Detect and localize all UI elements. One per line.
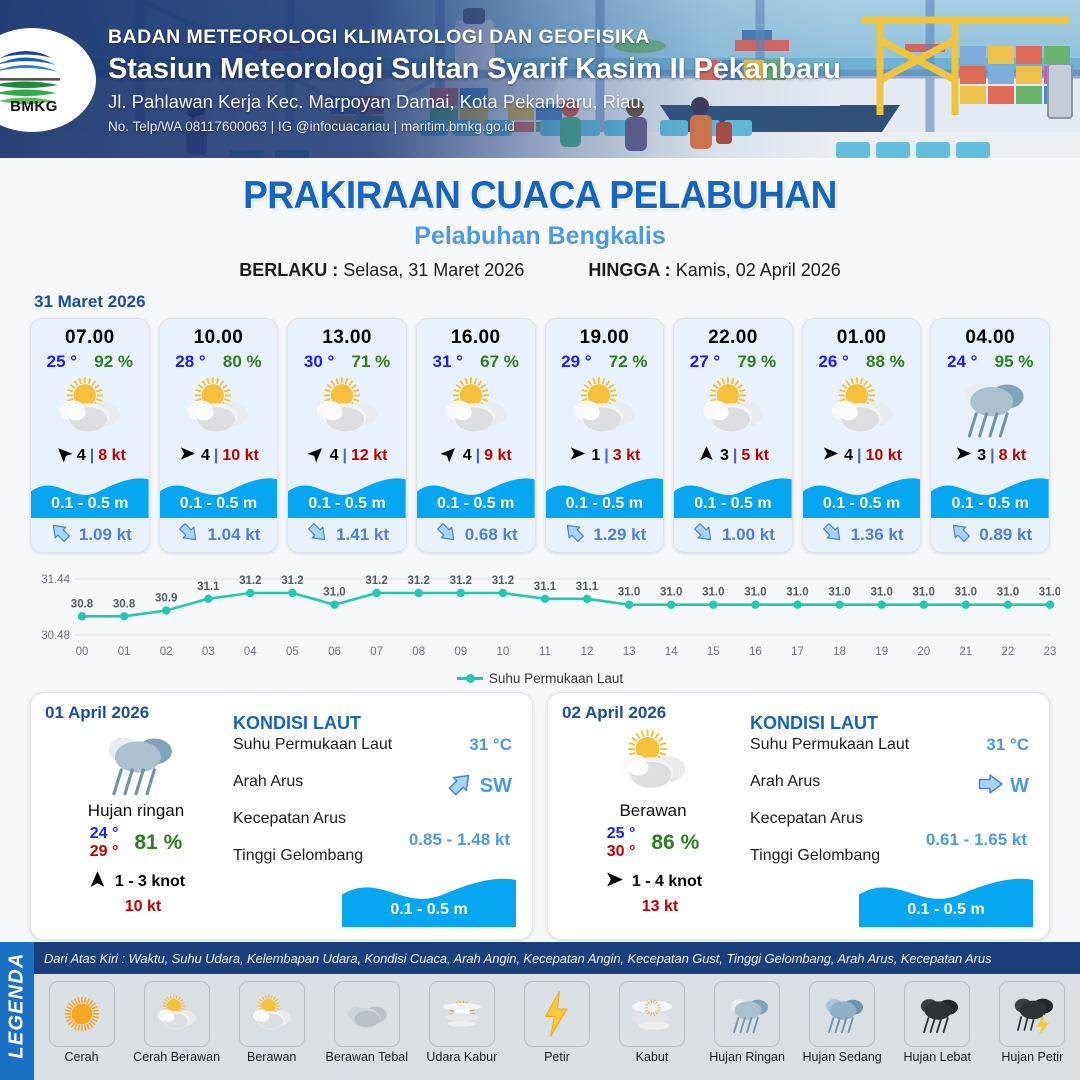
svg-text:31.44: 31.44 — [41, 574, 70, 586]
legend-item: Hujan Petir — [988, 981, 1076, 1064]
card-current-row: 1.29 kt — [546, 518, 664, 552]
weather-cerah-berawan-icon — [417, 372, 535, 442]
card-wave-block: 0.1 - 0.5 m — [31, 472, 149, 518]
card-wave-block: 0.1 - 0.5 m — [417, 472, 535, 518]
card-temp-hum: 26 ° 88 % — [803, 349, 921, 372]
card-humidity: 72 % — [609, 352, 648, 372]
card-time: 07.00 — [31, 319, 149, 349]
weather-cerah-berawan-icon — [31, 372, 149, 442]
svg-text:31.0: 31.0 — [744, 587, 766, 599]
sst-label: Suhu Permukaan Laut — [750, 736, 909, 753]
card-temp-hum: 27 ° 79 % — [674, 349, 792, 372]
card-wind-row: 4 | 12 kt — [288, 442, 406, 472]
svg-text:19: 19 — [875, 646, 888, 658]
svg-text:06: 06 — [328, 646, 341, 658]
card-wave-block: 0.1 - 0.5 m — [546, 472, 664, 518]
sst-chart: 31.4430.4830.80030.80130.90231.10331.204… — [20, 563, 1060, 669]
current-speed: 1.41 kt — [336, 525, 389, 545]
current-direction-row: Arah Arus W — [750, 773, 1035, 810]
daily-wind-gust: 10 kt — [45, 898, 227, 916]
legend-udara-kabur-icon — [429, 981, 495, 1047]
wind-direction-arrow-icon — [54, 444, 73, 468]
current-direction-arrow-icon — [176, 520, 201, 550]
legend-bar: LEGENDA Dari Atas Kiri : Waktu, Suhu Uda… — [0, 942, 1080, 1080]
svg-text:31.0: 31.0 — [997, 587, 1019, 599]
svg-text:10: 10 — [497, 646, 510, 658]
chart-legend: Suhu Permukaan Laut — [0, 671, 1080, 686]
svg-text:23: 23 — [1044, 646, 1057, 658]
wave-height: 0.1 - 0.5 m — [674, 495, 792, 513]
svg-text:07: 07 — [370, 646, 383, 658]
legend-berawan-tebal-icon — [334, 981, 400, 1047]
daily-humidity: 81 % — [134, 831, 182, 855]
card-humidity: 71 % — [352, 352, 391, 372]
daily-sea-conditions: KONDISI LAUT Suhu Permukaan Laut 31 °C A… — [227, 703, 518, 929]
current-direction-arrow-icon — [48, 520, 73, 550]
card-current-row: 1.09 kt — [31, 518, 149, 552]
current-direction-arrow-icon — [445, 769, 475, 804]
card-wind-row: 4 | 10 kt — [803, 442, 921, 472]
sea-conditions-title: KONDISI LAUT — [750, 713, 1035, 734]
wave-height: 0.1 - 0.5 m — [31, 495, 149, 513]
daily-temp-max: 29 ° — [90, 843, 119, 861]
wind-separator: | — [214, 447, 218, 465]
wind-separator: | — [604, 447, 608, 465]
sst-value: 31 °C — [469, 735, 512, 755]
daily-sea-conditions: KONDISI LAUT Suhu Permukaan Laut 31 °C A… — [744, 703, 1035, 929]
weather-cerah-berawan-icon — [160, 372, 278, 442]
legend-hujan-petir-icon — [999, 981, 1065, 1047]
svg-text:31.0: 31.0 — [913, 587, 935, 599]
wind-speed: 3 — [977, 447, 986, 465]
svg-text:04: 04 — [244, 646, 257, 658]
daily-date: 02 April 2026 — [562, 703, 744, 723]
legend-item: Berawan — [228, 981, 316, 1064]
weather-cerah-berawan-icon — [546, 372, 664, 442]
wave-height-label: Tinggi Gelombang — [233, 847, 363, 864]
sst-row: Suhu Permukaan Laut 31 °C — [233, 736, 518, 773]
legend-item-label: Petir — [513, 1050, 601, 1064]
wind-speed: 4 — [201, 447, 210, 465]
legend-note: Dari Atas Kiri : Waktu, Suhu Udara, Kele… — [44, 951, 991, 966]
daily-forecast-row: 01 April 2026 Hujan ringan 24 ° 29 ° 81 … — [0, 686, 1080, 940]
daily-temps: 24 ° 29 ° 81 % — [45, 825, 227, 861]
current-direction-arrow-icon — [434, 520, 459, 550]
svg-text:31.0: 31.0 — [786, 587, 808, 599]
current-direction-value: W — [1010, 775, 1029, 798]
wind-gust: 5 kt — [741, 447, 769, 465]
wave-height: 0.1 - 0.5 m — [803, 495, 921, 513]
svg-text:00: 00 — [76, 646, 89, 658]
legend-tab: LEGENDA — [0, 942, 34, 1080]
svg-text:22: 22 — [1002, 646, 1015, 658]
station-contact: No. Telp/WA 08117600063 | IG @infocuacar… — [108, 119, 841, 134]
current-speed: 0.89 kt — [979, 525, 1032, 545]
current-speed: 1.09 kt — [79, 525, 132, 545]
card-time: 22.00 — [674, 319, 792, 349]
current-direction-arrow-icon — [820, 520, 845, 550]
card-current-row: 0.89 kt — [931, 518, 1049, 552]
svg-text:18: 18 — [833, 646, 846, 658]
card-wave-block: 0.1 - 0.5 m — [674, 472, 792, 518]
current-speed-label: Kecepatan Arus — [750, 810, 863, 827]
page-title-block: PRAKIRAAN CUACA PELABUHAN Pelabuhan Beng… — [0, 158, 1080, 281]
svg-text:15: 15 — [707, 646, 720, 658]
card-temperature: 31 ° — [432, 352, 462, 372]
station-name: Stasiun Meteorologi Sultan Syarif Kasim … — [108, 53, 841, 86]
legend-item-label: Hujan Lebat — [893, 1050, 981, 1064]
wind-gust: 3 kt — [613, 447, 641, 465]
card-time: 13.00 — [288, 319, 406, 349]
wind-gust: 8 kt — [98, 447, 126, 465]
hourly-forecast-row: 07.00 25 ° 92 % 4 | 8 kt 0.1 - 0. — [0, 318, 1080, 553]
daily-forecast-card[interactable]: 01 April 2026 Hujan ringan 24 ° 29 ° 81 … — [30, 692, 533, 940]
card-temp-hum: 31 ° 67 % — [417, 349, 535, 372]
legend-item-label: Berawan Tebal — [323, 1050, 411, 1064]
card-humidity: 88 % — [866, 352, 905, 372]
wind-speed: 4 — [77, 447, 86, 465]
svg-text:31.1: 31.1 — [197, 581, 220, 593]
wind-direction-arrow-icon — [821, 444, 840, 468]
daily-condition: Berawan — [562, 801, 744, 821]
current-direction-row: Arah Arus SW — [233, 773, 518, 810]
legend-item-label: Kabut — [608, 1050, 696, 1064]
svg-text:31.0: 31.0 — [871, 587, 893, 599]
svg-text:31.1: 31.1 — [534, 581, 557, 593]
card-wave-block: 0.1 - 0.5 m — [160, 472, 278, 518]
daily-wind-row: 1 - 4 knot — [562, 869, 744, 895]
card-wind-row: 3 | 8 kt — [931, 442, 1049, 472]
weather-cerah-berawan-icon — [562, 725, 744, 799]
svg-text:31.0: 31.0 — [1039, 587, 1060, 599]
hingga-label: HINGGA : — [588, 260, 670, 280]
sst-row: Suhu Permukaan Laut 31 °C — [750, 736, 1035, 773]
hourly-card[interactable]: 01.00 26 ° 88 % 4 | 10 kt 0.1 - 0 — [802, 318, 922, 553]
card-temp-hum: 30 ° 71 % — [288, 349, 406, 372]
weather-hujan-ringan-icon — [45, 725, 227, 799]
wave-height: 0.1 - 0.5 m — [417, 495, 535, 513]
card-humidity: 67 % — [480, 352, 519, 372]
current-direction-value-group: SW — [445, 769, 512, 804]
legend-item: Berawan Tebal — [323, 981, 411, 1064]
legend-item: Kabut — [608, 981, 696, 1064]
legend-item-label: Cerah — [38, 1050, 126, 1064]
weather-cerah-berawan-icon — [674, 372, 792, 442]
banner-text-block: BADAN METEOROLOGI KLIMATOLOGI DAN GEOFIS… — [108, 26, 841, 134]
agency-name: BADAN METEOROLOGI KLIMATOLOGI DAN GEOFIS… — [108, 26, 841, 49]
validity-row: BERLAKU : Selasa, 31 Maret 2026 HINGGA :… — [0, 260, 1080, 281]
daily-temp-range: 25 ° 30 ° — [607, 825, 636, 861]
wind-gust: 8 kt — [999, 447, 1027, 465]
card-current-row: 1.36 kt — [803, 518, 921, 552]
wind-separator: | — [990, 447, 994, 465]
berlaku-value: Selasa, 31 Maret 2026 — [343, 260, 524, 280]
svg-text:03: 03 — [202, 646, 215, 658]
page-subtitle: Pelabuhan Bengkalis — [0, 222, 1080, 251]
wind-direction-arrow-icon — [697, 444, 716, 468]
wind-speed: 4 — [463, 447, 472, 465]
legend-item-label: Hujan Sedang — [798, 1050, 886, 1064]
wind-gust: 10 kt — [866, 447, 902, 465]
card-temp-hum: 28 ° 80 % — [160, 349, 278, 372]
sst-value: 31 °C — [986, 735, 1029, 755]
wave-height: 0.1 - 0.5 m — [288, 495, 406, 513]
daily-wave-value: 0.1 - 0.5 m — [859, 901, 1033, 919]
legend-hujan-lebat-icon — [904, 981, 970, 1047]
svg-text:31.0: 31.0 — [660, 587, 682, 599]
current-direction-arrow-icon — [948, 520, 973, 550]
svg-text:30.48: 30.48 — [41, 630, 70, 642]
svg-text:08: 08 — [412, 646, 425, 658]
svg-text:20: 20 — [917, 646, 930, 658]
legend-icon-row: Cerah Cerah Berawan Berawan — [34, 974, 1080, 1080]
card-current-row: 0.68 kt — [417, 518, 535, 552]
wind-gust: 9 kt — [484, 447, 512, 465]
chart-legend-label: Suhu Permukaan Laut — [489, 671, 623, 686]
daily-wave-graphic: 0.1 - 0.5 m — [342, 871, 516, 927]
wind-gust: 12 kt — [351, 447, 387, 465]
header-banner: BMKG BADAN METEOROLOGI KLIMATOLOGI DAN G… — [0, 0, 1080, 158]
daily-temps: 25 ° 30 ° 86 % — [562, 825, 744, 861]
sst-label: Suhu Permukaan Laut — [233, 736, 392, 753]
card-wind-row: 4 | 8 kt — [31, 442, 149, 472]
wind-direction-arrow-icon — [604, 869, 625, 895]
current-direction-arrow-icon — [975, 769, 1005, 804]
svg-text:05: 05 — [286, 646, 299, 658]
wind-separator: | — [857, 447, 861, 465]
wave-height: 0.1 - 0.5 m — [546, 495, 664, 513]
svg-text:17: 17 — [791, 646, 804, 658]
card-time: 19.00 — [546, 319, 664, 349]
svg-text:31.0: 31.0 — [955, 587, 977, 599]
daily-wave-value: 0.1 - 0.5 m — [342, 901, 516, 919]
current-speed-row: Kecepatan Arus 0.85 - 1.48 kt — [233, 810, 518, 847]
hingga-value: Kamis, 02 April 2026 — [676, 260, 841, 280]
card-wind-row: 4 | 10 kt — [160, 442, 278, 472]
current-speed-label: Kecepatan Arus — [233, 810, 346, 827]
wind-direction-arrow-icon — [307, 444, 326, 468]
card-wave-block: 0.1 - 0.5 m — [803, 472, 921, 518]
svg-text:31.2: 31.2 — [450, 575, 472, 587]
weather-cerah-berawan-icon — [803, 372, 921, 442]
svg-text:31.1: 31.1 — [576, 581, 599, 593]
svg-text:21: 21 — [959, 646, 972, 658]
current-direction-arrow-icon — [562, 520, 587, 550]
sst-chart-svg: 31.4430.4830.80030.80130.90231.10331.204… — [20, 563, 1060, 669]
daily-temp-min: 25 ° — [607, 825, 636, 843]
current-direction-label: Arah Arus — [750, 773, 820, 790]
daily-wind-gust: 13 kt — [562, 898, 744, 916]
legend-hujan-ringan-icon — [714, 981, 780, 1047]
station-address: Jl. Pahlawan Kerja Kec. Marpoyan Damai, … — [108, 91, 841, 113]
current-direction-arrow-icon — [691, 520, 716, 550]
hourly-card[interactable]: 13.00 30 ° 71 % 4 | 12 kt 0.1 - 0 — [287, 318, 407, 553]
legend-item: Hujan Sedang — [798, 981, 886, 1064]
wave-height-label: Tinggi Gelombang — [750, 847, 880, 864]
svg-text:31.2: 31.2 — [365, 575, 387, 587]
card-temperature: 28 ° — [175, 352, 205, 372]
svg-text:30.9: 30.9 — [155, 593, 177, 605]
hourly-date-label: 31 Maret 2026 — [34, 292, 1080, 312]
legend-item-label: Hujan Petir — [988, 1050, 1076, 1064]
legend-item-label: Berawan — [228, 1050, 316, 1064]
legend-item: Petir — [513, 981, 601, 1064]
card-temp-hum: 29 ° 72 % — [546, 349, 664, 372]
svg-text:13: 13 — [623, 646, 636, 658]
bmkg-logo-text: BMKG — [0, 98, 72, 115]
daily-left: 02 April 2026 Berawan 25 ° 30 ° 86 % — [562, 703, 744, 929]
legend-item: Udara Kabur — [418, 981, 506, 1064]
svg-text:31.0: 31.0 — [828, 587, 850, 599]
wind-separator: | — [476, 447, 480, 465]
berlaku-label: BERLAKU : — [239, 260, 338, 280]
legend-vertical-label: LEGENDA — [6, 937, 29, 1075]
legend-cerah-icon — [49, 981, 115, 1047]
card-current-row: 1.41 kt — [288, 518, 406, 552]
berlaku-group: BERLAKU : Selasa, 31 Maret 2026 — [239, 260, 524, 281]
current-direction-value: SW — [480, 775, 512, 798]
sea-conditions-title: KONDISI LAUT — [233, 713, 518, 734]
svg-text:31.0: 31.0 — [618, 587, 640, 599]
card-wave-block: 0.1 - 0.5 m — [931, 472, 1049, 518]
wind-separator: | — [90, 447, 94, 465]
card-time: 16.00 — [417, 319, 535, 349]
daily-temp-min: 24 ° — [90, 825, 119, 843]
card-current-row: 1.04 kt — [160, 518, 278, 552]
current-speed: 1.04 kt — [207, 525, 260, 545]
legend-cerah-berawan-icon — [144, 981, 210, 1047]
current-speed: 0.68 kt — [465, 525, 518, 545]
wind-speed: 3 — [720, 447, 729, 465]
current-direction-label: Arah Arus — [233, 773, 303, 790]
card-time: 10.00 — [160, 319, 278, 349]
legend-kabut-icon — [619, 981, 685, 1047]
wind-direction-arrow-icon — [954, 444, 973, 468]
legend-hujan-sedang-icon — [809, 981, 875, 1047]
card-humidity: 79 % — [737, 352, 776, 372]
hourly-card[interactable]: 19.00 29 ° 72 % 1 | 3 kt 0.1 - 0. — [545, 318, 665, 553]
svg-text:30.8: 30.8 — [71, 598, 94, 610]
daily-condition: Hujan ringan — [45, 801, 227, 821]
svg-text:30.8: 30.8 — [113, 598, 136, 610]
chart-legend-marker — [457, 677, 483, 680]
wind-direction-arrow-icon — [178, 444, 197, 468]
card-temperature: 27 ° — [690, 352, 720, 372]
daily-temp-range: 24 ° 29 ° — [90, 825, 119, 861]
current-speed: 1.29 kt — [593, 525, 646, 545]
svg-text:16: 16 — [749, 646, 762, 658]
svg-text:31.0: 31.0 — [702, 587, 724, 599]
legend-item-label: Cerah Berawan — [133, 1050, 221, 1064]
wind-separator: | — [343, 447, 347, 465]
hourly-card[interactable]: 07.00 25 ° 92 % 4 | 8 kt 0.1 - 0. — [30, 318, 150, 553]
card-wave-block: 0.1 - 0.5 m — [288, 472, 406, 518]
current-speed-row: Kecepatan Arus 0.61 - 1.65 kt — [750, 810, 1035, 847]
svg-text:31.2: 31.2 — [408, 575, 430, 587]
hingga-group: HINGGA : Kamis, 02 April 2026 — [588, 260, 840, 281]
card-current-row: 1.00 kt — [674, 518, 792, 552]
legend-item: Cerah Berawan — [133, 981, 221, 1064]
daily-left: 01 April 2026 Hujan ringan 24 ° 29 ° 81 … — [45, 703, 227, 929]
svg-text:01: 01 — [118, 646, 131, 658]
card-humidity: 92 % — [94, 352, 133, 372]
card-time: 01.00 — [803, 319, 921, 349]
daily-humidity: 86 % — [651, 831, 699, 855]
svg-text:12: 12 — [581, 646, 594, 658]
current-speed: 1.00 kt — [722, 525, 775, 545]
wind-speed: 4 — [844, 447, 853, 465]
wind-direction-arrow-icon — [568, 444, 587, 468]
wind-gust: 10 kt — [222, 447, 258, 465]
daily-wind-range: 1 - 4 knot — [632, 873, 702, 891]
wind-speed: 4 — [330, 447, 339, 465]
hourly-card[interactable]: 04.00 24 ° 95 % 3 | 8 kt 0.1 - 0.5 m 0.8… — [930, 318, 1050, 553]
svg-text:31.2: 31.2 — [492, 575, 514, 587]
wind-speed: 1 — [591, 447, 600, 465]
legend-item: Cerah — [38, 981, 126, 1064]
hourly-card[interactable]: 22.00 27 ° 79 % 3 | 5 kt 0.1 - 0. — [673, 318, 793, 553]
legend-item: Hujan Ringan — [703, 981, 791, 1064]
svg-text:31.2: 31.2 — [239, 575, 261, 587]
card-time: 04.00 — [931, 319, 1049, 349]
card-temperature: 26 ° — [818, 352, 848, 372]
weather-hujan-ringan-icon — [931, 372, 1049, 442]
svg-text:11: 11 — [539, 646, 551, 658]
current-speed: 1.36 kt — [851, 525, 904, 545]
card-temperature: 30 ° — [304, 352, 334, 372]
legend-item: Hujan Lebat — [893, 981, 981, 1064]
weather-cerah-berawan-icon — [288, 372, 406, 442]
card-temperature: 25 ° — [47, 352, 77, 372]
wave-height: 0.1 - 0.5 m — [931, 495, 1049, 513]
card-temp-hum: 25 ° 92 % — [31, 349, 149, 372]
daily-wind-range: 1 - 3 knot — [115, 873, 185, 891]
daily-temp-max: 30 ° — [607, 843, 636, 861]
svg-text:31.0: 31.0 — [323, 587, 345, 599]
legend-item-label: Hujan Ringan — [703, 1050, 791, 1064]
svg-text:14: 14 — [665, 646, 678, 658]
svg-text:09: 09 — [454, 646, 467, 658]
card-humidity: 80 % — [223, 352, 262, 372]
hourly-card[interactable]: 10.00 28 ° 80 % 4 | 10 kt 0.1 - 0 — [159, 318, 279, 553]
legend-petir-icon — [524, 981, 590, 1047]
current-direction-value-group: W — [975, 769, 1029, 804]
daily-forecast-card[interactable]: 02 April 2026 Berawan 25 ° 30 ° 86 % — [547, 692, 1050, 940]
svg-text:02: 02 — [160, 646, 173, 658]
svg-text:31.2: 31.2 — [281, 575, 303, 587]
daily-wind-row: 1 - 3 knot — [45, 869, 227, 895]
current-direction-arrow-icon — [305, 520, 330, 550]
card-wind-row: 1 | 3 kt — [546, 442, 664, 472]
page-title: PRAKIRAAN CUACA PELABUHAN — [27, 174, 1053, 218]
legend-item-label: Udara Kabur — [418, 1050, 506, 1064]
hourly-card[interactable]: 16.00 31 ° 67 % 4 | 9 kt 0.1 - 0. — [416, 318, 536, 553]
wave-height: 0.1 - 0.5 m — [160, 495, 278, 513]
wind-separator: | — [733, 447, 737, 465]
card-wind-row: 3 | 5 kt — [674, 442, 792, 472]
daily-date: 01 April 2026 — [45, 703, 227, 723]
card-wind-row: 4 | 9 kt — [417, 442, 535, 472]
wind-direction-arrow-icon — [440, 444, 459, 468]
legend-berawan-icon — [239, 981, 305, 1047]
card-temperature: 29 ° — [561, 352, 591, 372]
daily-wave-graphic: 0.1 - 0.5 m — [859, 871, 1033, 927]
wind-direction-arrow-icon — [87, 869, 108, 895]
